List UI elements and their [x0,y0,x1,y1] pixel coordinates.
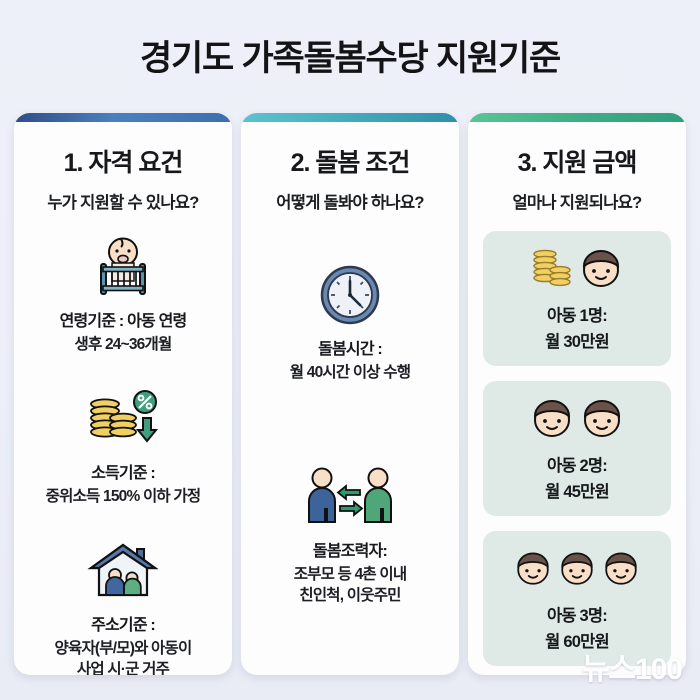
amount-label: 아동 3명: [489,602,665,626]
card-title: 2. 돌봄 조건 [241,143,459,179]
amount-value: 월 45만원 [489,478,665,502]
item-label: 소득기준 : [14,463,232,485]
coins-percent-down-icon [14,381,232,457]
three-children-icon [489,543,665,595]
card-title: 3. 지원 금액 [468,143,686,179]
item-desc: 양육자(부/모)와 아동이 사업 시·군 거주 [14,638,232,675]
item-label: 돌봄시간 : [241,339,459,361]
house-family-icon [14,533,232,609]
card-header: 3. 지원 금액 얼마나 지원되나요? [468,121,686,213]
card-support-amount: 3. 지원 금액 얼마나 지원되나요? [468,113,686,675]
item-age-criteria: 연령기준 : 아동 연령 생후 24~36개월 [14,229,232,355]
card-subtitle: 누가 지원할 수 있나요? [14,189,232,213]
two-people-exchange-icon [241,459,459,535]
item-care-helper: 돌봄조력자: 조부모 등 4촌 이내 친인척, 이웃주민 [241,459,459,606]
card-subtitle: 어떻게 돌봐야 하나요? [241,189,459,213]
coins-and-one-child-icon [489,243,665,295]
amount-box-1-child: 아동 1명: 월 30만원 [483,231,671,366]
card-items: 연령기준 : 아동 연령 생후 24~36개월 [14,229,232,675]
card-header: 1. 자격 요건 누가 지원할 수 있나요? [14,121,232,213]
clock-icon [241,257,459,333]
baby-crib-icon [14,229,232,305]
item-label: 연령기준 : 아동 연령 [14,311,232,333]
item-address-criteria: 주소기준 : 양육자(부/모)와 아동이 사업 시·군 거주 [14,533,232,675]
item-desc: 월 40시간 이상 수행 [241,362,459,383]
amount-value: 월 30만원 [489,328,665,352]
card-accent-bar [14,113,232,122]
card-accent-bar [241,113,459,122]
amount-label: 아동 2명: [489,452,665,476]
cards-row: 1. 자격 요건 누가 지원할 수 있나요? [14,113,686,675]
page-title: 경기도 가족돌봄수당 지원기준 [0,30,700,81]
item-label: 돌봄조력자: [241,541,459,563]
item-income-criteria: 소득기준 : 중위소득 150% 이하 가정 [14,381,232,507]
amount-label: 아동 1명: [489,302,665,326]
card-title: 1. 자격 요건 [14,143,232,179]
infographic-page: 경기도 가족돌봄수당 지원기준 1. 자격 요건 누가 지원할 수 있나요? [0,0,700,700]
amount-boxes: 아동 1명: 월 30만원 [468,231,686,666]
card-subtitle: 얼마나 지원되나요? [468,189,686,213]
item-desc: 생후 24~36개월 [14,334,232,355]
amount-box-2-children: 아동 2명: 월 45만원 [483,381,671,516]
watermark: 뉴스100 [582,644,682,688]
card-header: 2. 돌봄 조건 어떻게 돌봐야 하나요? [241,121,459,213]
item-desc: 조부모 등 4촌 이내 친인척, 이웃주민 [241,564,459,607]
item-label: 주소기준 : [14,615,232,637]
item-desc: 중위소득 150% 이하 가정 [14,486,232,507]
card-care-conditions: 2. 돌봄 조건 어떻게 돌봐야 하나요? [241,113,459,675]
two-children-icon [489,393,665,445]
card-items: 돌봄시간 : 월 40시간 이상 수행 돌봄조 [241,257,459,606]
item-care-hours: 돌봄시간 : 월 40시간 이상 수행 [241,257,459,383]
card-accent-bar [468,113,686,122]
card-eligibility: 1. 자격 요건 누가 지원할 수 있나요? [14,113,232,675]
